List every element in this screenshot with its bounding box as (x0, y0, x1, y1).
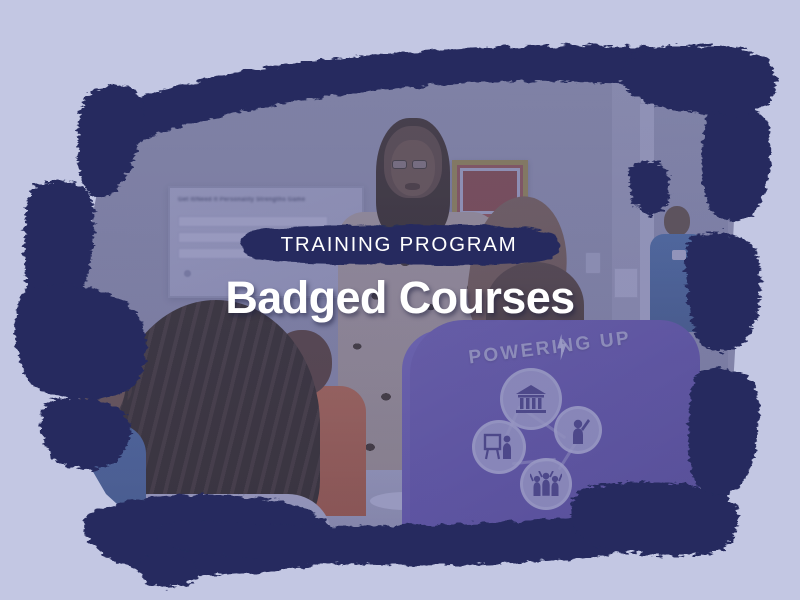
promo-card: Get It/Need It Personality Strengths Gam… (0, 0, 800, 600)
text-overlay: TRAINING PROGRAM Badged Courses (0, 0, 800, 600)
training-program-badge: TRAINING PROGRAM (236, 224, 562, 266)
page-title: Badged Courses (0, 272, 800, 324)
badge-label: TRAINING PROGRAM (281, 233, 518, 257)
